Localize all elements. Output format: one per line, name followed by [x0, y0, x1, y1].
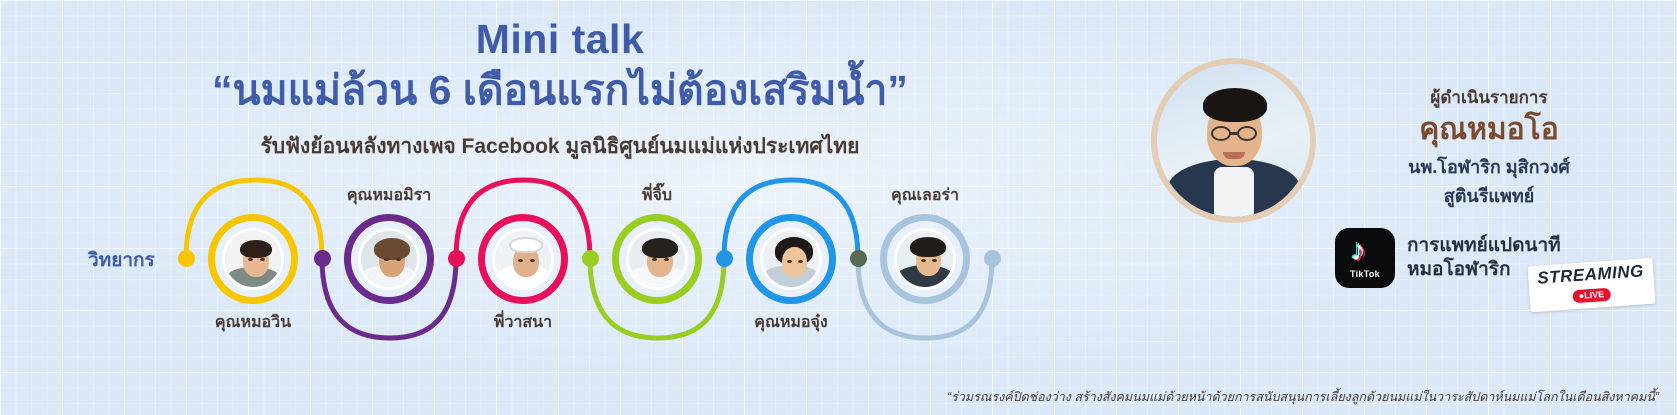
host-full-name: นพ.โอฬาริก มุสิกวงศ์: [1339, 152, 1639, 181]
speaker-node-2[interactable]: คุณหมอมิรา: [344, 214, 434, 304]
page-title-english: Mini talk: [0, 18, 1120, 61]
speaker-avatar-ring: [612, 214, 702, 304]
speaker-avatar-photo: [222, 228, 284, 290]
speakers-section-label: วิทยากร: [88, 245, 155, 275]
speaker-node-6[interactable]: คุณเลอร่า: [880, 214, 970, 304]
channel-name-line1: การแพทย์แปดนาที: [1407, 234, 1561, 258]
headline-block: Mini talk “นมแม่ล้วน 6 เดือนแรกไม่ต้องเส…: [0, 18, 1120, 163]
speaker-avatar-photo: [894, 228, 956, 290]
speaker-node-1[interactable]: คุณหมอวิน: [208, 214, 298, 304]
speaker-name-6: คุณเลอร่า: [891, 183, 959, 208]
speaker-avatar-photo: [358, 228, 420, 290]
host-specialty: สูตินรีแพทย์: [1339, 181, 1639, 210]
speakers-timeline: คุณหมอวิน คุณหมอมิรา: [0, 170, 1060, 345]
speaker-avatar-ring: [880, 214, 970, 304]
host-panel: ผู้ดำเนินรายการ คุณหมอโอ นพ.โอฬาริก มุสิ…: [1143, 0, 1663, 415]
speaker-node-5[interactable]: คุณหมอจุ๋ง: [746, 214, 836, 304]
speaker-name-3: พี่วาสนา: [494, 310, 552, 335]
speaker-name-2: คุณหมอมิรา: [347, 183, 431, 208]
timeline-dot: [850, 250, 867, 267]
speaker-name-4: พี่จิ๊บ: [642, 183, 672, 208]
portrait-illustration: [629, 231, 685, 287]
speaker-name-5: คุณหมอจุ๋ง: [754, 310, 827, 335]
channel-row[interactable]: ♪ ♪ ♪ TikTok การแพทย์แปดนาที หมอโอฬาริก: [1335, 228, 1561, 288]
timeline-dot: [716, 250, 733, 267]
portrait-illustration: [763, 231, 819, 287]
streaming-label: STREAMING: [1537, 261, 1645, 288]
timeline-dot: [984, 250, 1001, 267]
timeline-dot: [178, 250, 195, 267]
speaker-avatar-photo: [492, 228, 554, 290]
speaker-avatar-ring: [478, 214, 568, 304]
live-badge: ●LIVE: [1572, 288, 1611, 304]
host-nickname: คุณหมอโอ: [1339, 113, 1639, 146]
timeline-dot: [582, 250, 599, 267]
timeline-dot: [448, 250, 465, 267]
timeline-dot: [314, 250, 331, 267]
tiktok-note-glyph: ♪ ♪ ♪: [1351, 238, 1379, 268]
page-title-thai: “นมแม่ล้วน 6 เดือนแรกไม่ต้องเสริมน้ำ”: [0, 65, 1120, 116]
portrait-illustration: [897, 231, 953, 287]
host-avatar-photo: [1157, 64, 1310, 217]
portrait-illustration: [361, 231, 417, 287]
tiktok-icon[interactable]: ♪ ♪ ♪ TikTok: [1335, 228, 1395, 288]
host-info: ผู้ดำเนินรายการ คุณหมอโอ นพ.โอฬาริก มุสิ…: [1339, 84, 1639, 210]
tiktok-wordmark: TikTok: [1350, 269, 1380, 279]
speaker-avatar-ring: [344, 214, 434, 304]
speaker-avatar-photo: [760, 228, 822, 290]
portrait-illustration: [225, 231, 281, 287]
speaker-name-1: คุณหมอวิน: [215, 310, 291, 335]
speaker-avatar-photo: [626, 228, 688, 290]
footer-campaign-note: “ร่วมรณรงค์ปิดช่องว่าง สร้างสังคมนมแม่ด้…: [947, 387, 1659, 407]
speaker-node-3[interactable]: พี่วาสนา: [478, 214, 568, 304]
streaming-badge: STREAMING ●LIVE: [1528, 258, 1655, 313]
portrait-illustration: [495, 231, 551, 287]
page-subtitle: รับฟังย้อนหลังทางเพจ Facebook มูลนิธิศูน…: [0, 130, 1120, 163]
speaker-node-4[interactable]: พี่จิ๊บ: [612, 214, 702, 304]
host-role-label: ผู้ดำเนินรายการ: [1339, 84, 1639, 111]
speaker-avatar-ring: [208, 214, 298, 304]
portrait-illustration: [1157, 64, 1310, 217]
speaker-avatar-ring: [746, 214, 836, 304]
host-avatar: [1151, 58, 1316, 223]
